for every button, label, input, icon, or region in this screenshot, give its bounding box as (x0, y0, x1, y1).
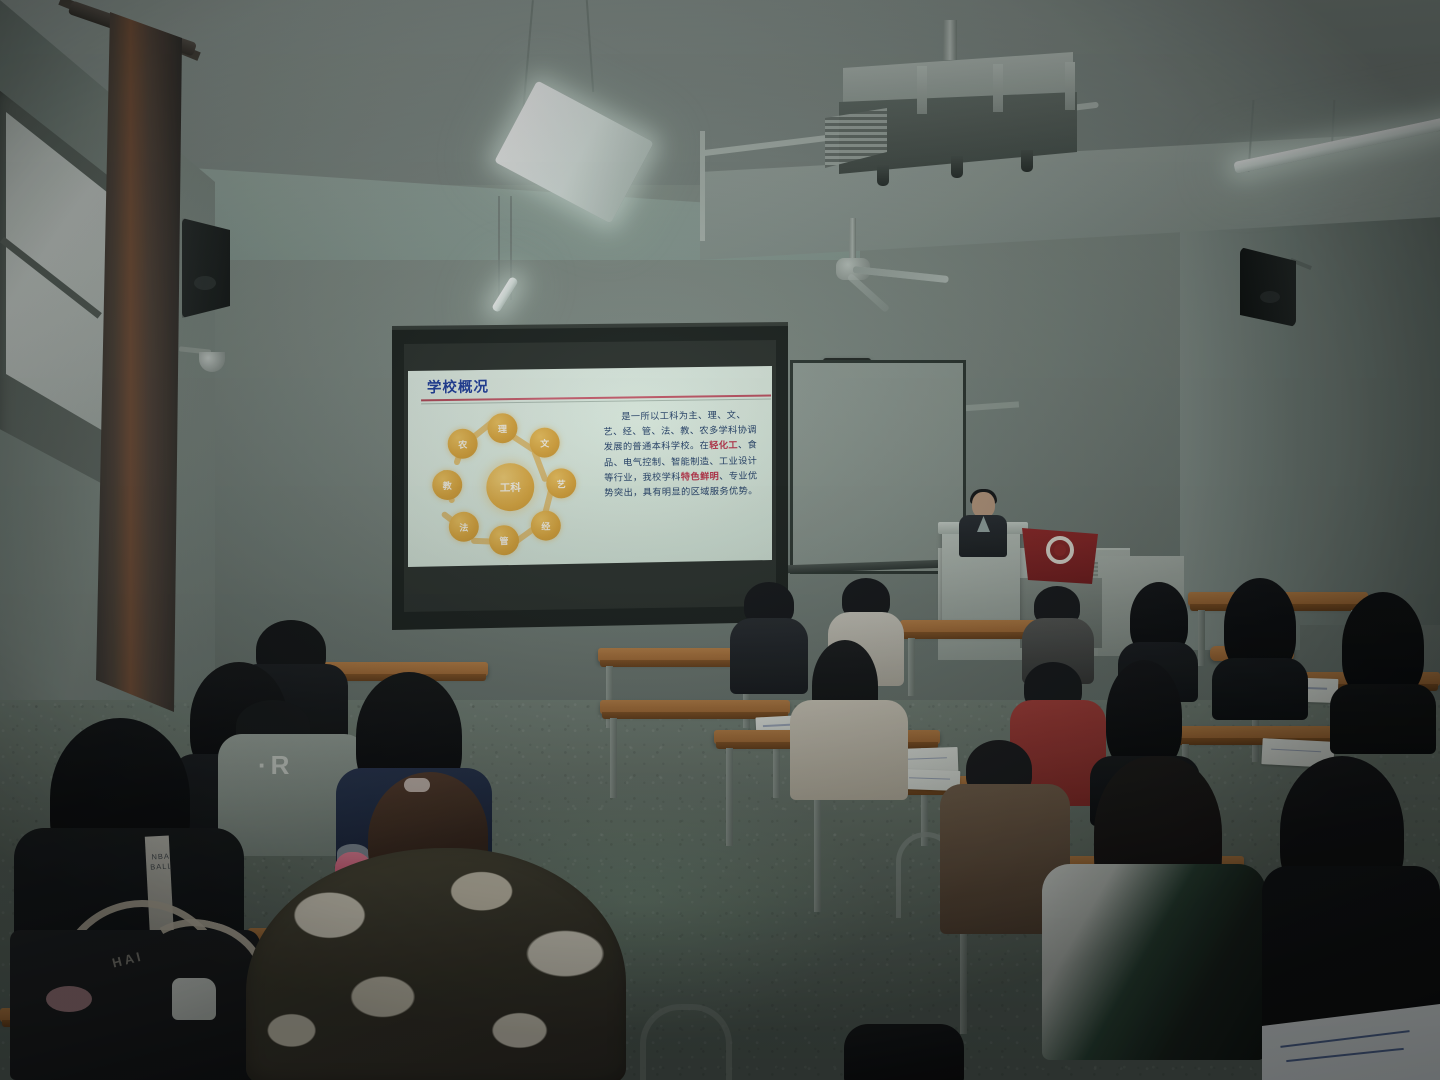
student-body (790, 700, 908, 800)
seated-student (1212, 578, 1308, 710)
jacket-letter-graphic: ·R (258, 750, 293, 781)
ceiling-projector-icon (825, 52, 1075, 182)
slide-body-highlight-1: 轻化工 (709, 440, 738, 451)
seated-student (1042, 756, 1266, 1056)
student-body (1330, 684, 1436, 754)
backpack (844, 1024, 964, 1080)
slide-body-text: 是一所以工科为主、理、文、艺、经、管、法、教、农多学科协调发展的普通本科学校。在… (603, 408, 764, 501)
far-right-wall (1300, 205, 1440, 625)
lanyard-text: NBA BALL (149, 851, 172, 872)
student-body (1042, 864, 1266, 1060)
slide-diagram: 工科 理 文 艺 经 管 法 教 农 (429, 410, 591, 562)
window-curtain (96, 12, 182, 712)
speaker-icon-right (1240, 247, 1296, 327)
diagram-node-center: 工科 (486, 463, 535, 512)
diagram-node-6: 教 (432, 470, 462, 500)
classroom-photo: 学校概况 工科 理 文 艺 经 管 法 教 (0, 0, 1440, 1080)
conduit-pipe (700, 131, 705, 241)
presentation-slide: 学校概况 工科 理 文 艺 经 管 法 教 (408, 366, 772, 567)
fan-pole (849, 218, 856, 260)
tote-bag-tag (46, 986, 92, 1012)
speaker-icon-left (182, 218, 230, 318)
slide-title: 学校概况 (427, 375, 489, 397)
seated-student (790, 640, 908, 790)
diagram-node-7: 农 (447, 429, 477, 459)
slide-body-highlight-2: 特色鲜明 (681, 471, 720, 483)
diagram-node-3: 经 (531, 510, 561, 540)
seated-student (1330, 592, 1436, 742)
student-body (1212, 658, 1308, 720)
diagram-node-1: 文 (529, 427, 559, 457)
diagram-node-4: 管 (489, 525, 519, 555)
presenter (960, 492, 1006, 554)
school-emblem-icon (1046, 536, 1074, 564)
chair-frame (640, 1004, 732, 1080)
hair-clip (404, 778, 430, 792)
diagram-node-2: 艺 (546, 468, 576, 498)
light-wire (498, 196, 500, 300)
tissue-paper (172, 978, 216, 1020)
blackboard (790, 360, 966, 574)
